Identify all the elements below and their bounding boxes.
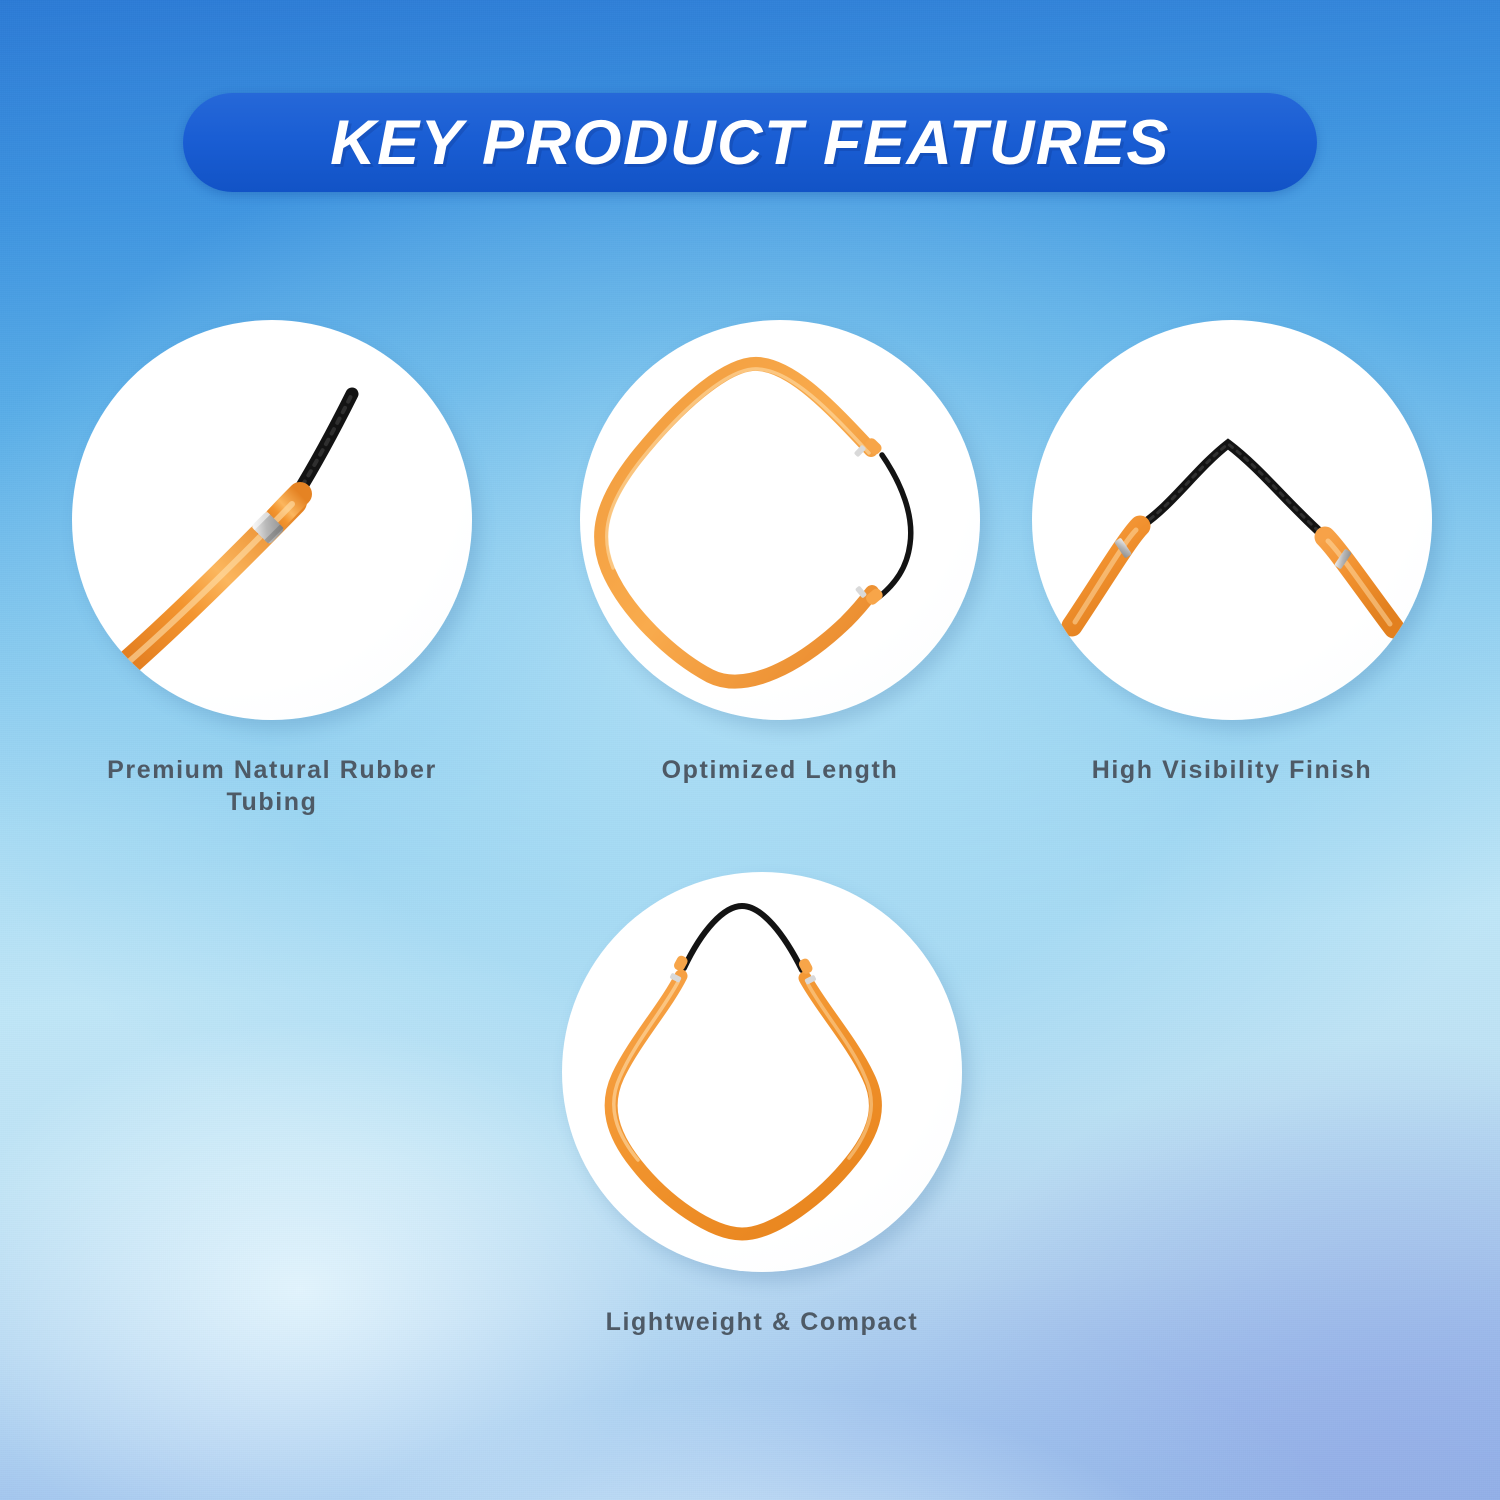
feature-card-optimized-length: Optimized Length: [580, 320, 980, 786]
feature-image-optimized-length: [580, 320, 980, 720]
title-banner: KEY PRODUCT FEATURES: [183, 93, 1317, 192]
feature-caption-optimized-length: Optimized Length: [570, 754, 990, 786]
feature-image-lightweight-compact: [562, 872, 962, 1272]
page-title: KEY PRODUCT FEATURES: [330, 107, 1170, 179]
infographic-canvas: KEY PRODUCT FEATURES: [0, 0, 1500, 1500]
feature-card-premium-natural-rubber-tubing: Premium Natural Rubber Tubing: [72, 320, 472, 818]
feature-caption-lightweight-compact: Lightweight & Compact: [552, 1306, 972, 1338]
feature-image-high-visibility-finish: [1032, 320, 1432, 720]
feature-caption-premium-natural-rubber-tubing: Premium Natural Rubber Tubing: [62, 754, 482, 818]
feature-card-lightweight-compact: Lightweight & Compact: [562, 872, 962, 1338]
feature-image-premium-natural-rubber-tubing: [72, 320, 472, 720]
feature-card-high-visibility-finish: High Visibility Finish: [1032, 320, 1432, 786]
feature-caption-high-visibility-finish: High Visibility Finish: [1022, 754, 1442, 786]
